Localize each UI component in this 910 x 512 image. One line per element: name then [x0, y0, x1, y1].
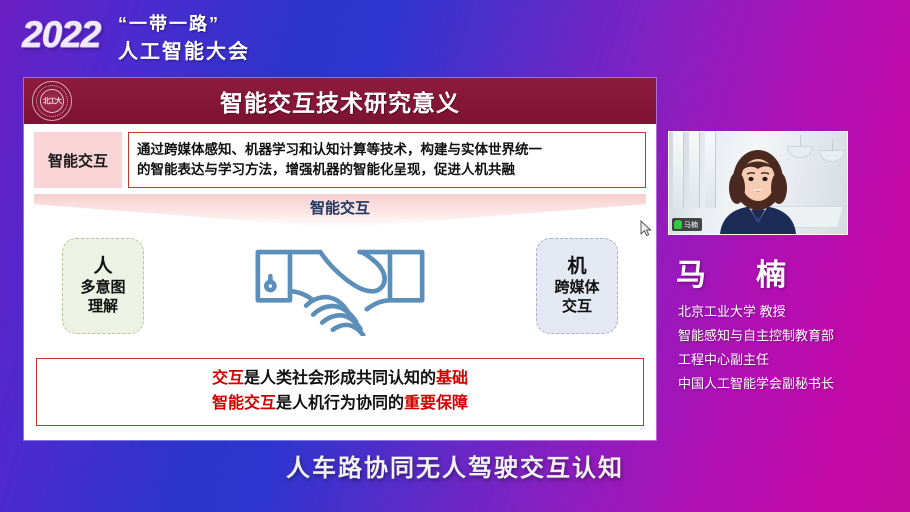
human-title: 人 — [93, 255, 112, 279]
conference-name: 人工智能大会 — [118, 35, 250, 64]
machine-title: 机 — [567, 255, 586, 279]
human-line-2: 理解 — [88, 298, 118, 317]
conclusion-2-keyword: 智能交互 — [212, 395, 276, 412]
mouse-cursor-icon — [640, 220, 652, 237]
chevron-band: 智能交互 — [34, 194, 646, 228]
session-caption: 人车路协同无人驾驶交互认知 — [0, 448, 910, 483]
human-line-1: 多意图 — [80, 279, 125, 298]
credential-line: 中国人工智能学会副秘书长 — [678, 372, 908, 396]
window-frame-1 — [673, 132, 684, 208]
definition-tag: 智能交互 — [34, 132, 122, 188]
conclusion-line-1: 交互是人类社会形成共同认知的基础 — [37, 366, 643, 392]
definition-row: 智能交互 通过跨媒体感知、机器学习和认知计算等技术，构建与实体世界统一 的智能表… — [34, 132, 646, 188]
pendant-lamp-2 — [819, 150, 845, 162]
slide-panel[interactable]: 北工大 智能交互技术研究意义 智能交互 通过跨媒体感知、机器学习和认知计算等技术… — [24, 78, 656, 440]
speaker-video-panel[interactable]: 马楠 — [668, 131, 848, 235]
interaction-diagram: 人 多意图 理解 — [34, 232, 646, 340]
conference-logo: 2022 “一带一路” 人工智能大会 — [22, 10, 442, 66]
microphone-icon — [674, 220, 682, 229]
conclusion-1-emphasis: 基础 — [436, 370, 468, 387]
conclusion-1-body: 是人类社会形成共同认知的 — [244, 370, 436, 387]
conclusion-2-body: 是人机行为协同的 — [276, 395, 404, 412]
slide-header: 北工大 智能交互技术研究意义 — [24, 78, 656, 124]
slide-body: 智能交互 通过跨媒体感知、机器学习和认知计算等技术，构建与实体世界统一 的智能表… — [24, 124, 656, 440]
definition-line-1: 通过跨媒体感知、机器学习和认知计算等技术，构建与实体世界统一 — [137, 140, 637, 160]
participant-name-badge: 马楠 — [672, 218, 702, 231]
speaker-name: 马 楠 — [676, 250, 796, 294]
speaker-credentials: 北京工业大学 教授 智能感知与自主控制教育部 工程中心副主任 中国人工智能学会副… — [678, 300, 908, 396]
machine-line-2: 交互 — [562, 298, 592, 317]
credential-line: 工程中心副主任 — [678, 348, 908, 372]
conclusion-2-emphasis: 重要保障 — [404, 395, 468, 412]
slide-title: 智能交互技术研究意义 — [220, 84, 460, 118]
window-frame-2 — [689, 132, 700, 208]
credential-line: 智能感知与自主控制教育部 — [678, 324, 908, 348]
machine-line-1: 跨媒体 — [554, 279, 599, 298]
participant-name: 马楠 — [684, 220, 698, 230]
conference-theme: “一带一路” — [118, 10, 220, 36]
chevron-label: 智能交互 — [34, 197, 646, 218]
university-seal-icon: 北工大 — [32, 81, 72, 121]
presentation-stage: 2022 “一带一路” 人工智能大会 北工大 智能交互技术研究意义 智能交互 通… — [0, 0, 910, 512]
human-entity-box: 人 多意图 理解 — [62, 238, 144, 334]
speaker-avatar — [710, 148, 806, 234]
conclusion-line-2: 智能交互是人机行为协同的重要保障 — [37, 391, 643, 417]
conclusion-box: 交互是人类社会形成共同认知的基础 智能交互是人机行为协同的重要保障 — [36, 358, 644, 426]
definition-line-2: 的智能表达与学习方法，增强机器的智能化呈现，促进人机共融 — [137, 160, 637, 180]
definition-text: 通过跨媒体感知、机器学习和认知计算等技术，构建与实体世界统一 的智能表达与学习方… — [128, 132, 646, 188]
conclusion-1-keyword: 交互 — [212, 370, 244, 387]
handshake-icon — [250, 236, 430, 336]
seal-ring — [36, 85, 68, 117]
conference-year: 2022 — [22, 14, 100, 56]
credential-line: 北京工业大学 教授 — [678, 300, 908, 324]
machine-entity-box: 机 跨媒体 交互 — [536, 238, 618, 334]
